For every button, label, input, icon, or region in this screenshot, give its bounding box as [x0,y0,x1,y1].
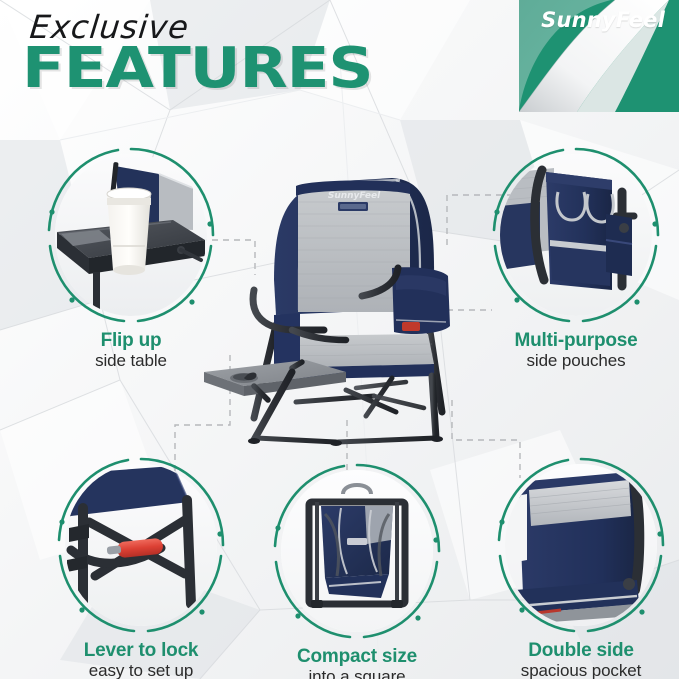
feature-image-flip-up-side-table [55,154,207,316]
feature-title: Double side [461,640,679,661]
feature-card-lever-to-lock[interactable]: Lever to lock easy to set up [52,452,230,679]
feature-caption-lever-to-lock: Lever to lock easy to set up [21,640,261,679]
feature-title: Lever to lock [21,640,261,661]
feature-card-multi-purpose-side-pouches[interactable]: Multi-purpose side pouches [487,142,665,372]
feature-caption-flip-up-side-table: Flip up side table [11,330,251,372]
feature-title: Compact size [237,646,477,667]
feature-subtitle: into a square [237,667,477,679]
feature-caption-multi-purpose-side-pouches: Multi-purpose side pouches [456,330,679,372]
feature-subtitle: spacious pocket [461,661,679,679]
feature-caption-double-side-spacious-pocket: Double side spacious pocket [461,640,679,679]
feature-title: Multi-purpose [456,330,679,351]
feature-card-double-side-spacious-pocket[interactable]: Double side spacious pocket [492,452,670,679]
brand-logo: SunnyFeel [541,8,665,32]
feature-image-lever-to-lock [65,464,217,626]
feature-subtitle: easy to set up [21,661,261,679]
product-chair-illustration: SunnyFeel [196,150,486,450]
feature-subtitle: side table [11,351,251,371]
feature-image-double-side-spacious-pocket [505,464,657,626]
svg-text:SunnyFeel: SunnyFeel [328,191,381,201]
feature-title: Flip up [11,330,251,351]
feature-subtitle: side pouches [456,351,679,371]
feature-caption-compact-size: Compact size into a square [237,646,477,679]
feature-image-compact-size [281,470,433,632]
feature-card-compact-size[interactable]: Compact size into a square [268,458,446,679]
feature-image-multi-purpose-side-pouches [500,154,652,316]
feature-card-flip-up-side-table[interactable]: Flip up side table [42,142,220,372]
infographic-canvas: SunnyFeel Exclusive FEATURES [0,0,679,679]
